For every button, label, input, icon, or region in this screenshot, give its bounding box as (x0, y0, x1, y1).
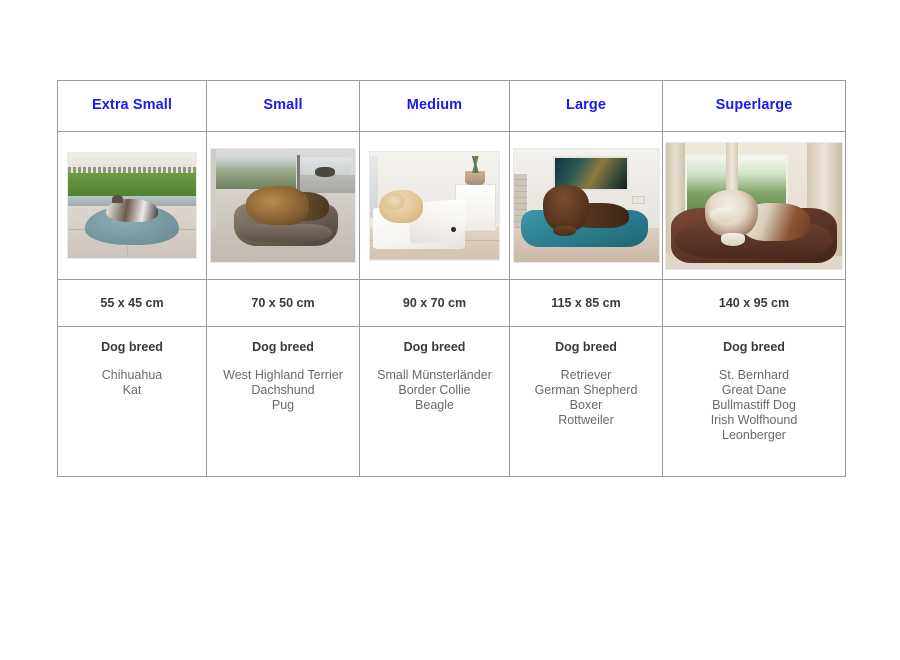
breed-item: Border Collie (360, 383, 509, 398)
breed-item: Kat (58, 383, 206, 398)
size-name-small: Small (207, 98, 359, 114)
dog-bed-photo-extra-small (67, 152, 197, 259)
breed-item: St. Bernhard (663, 368, 845, 383)
breed-item: Dachshund (207, 383, 359, 398)
size-name-extra-small: Extra Small (58, 98, 206, 114)
breed-item: Chihuahua (58, 368, 206, 383)
breed-item: Leonberger (663, 428, 845, 443)
dimensions-cell-small: 70 x 50 cm (207, 280, 360, 327)
dimensions-cell-medium: 90 x 70 cm (360, 280, 510, 327)
dimensions-large: 115 x 85 cm (510, 296, 662, 310)
breed-item: Pug (207, 398, 359, 413)
photo-cell-large (510, 132, 663, 280)
photo-cell-superlarge (663, 132, 846, 280)
size-name-superlarge: Superlarge (663, 98, 845, 114)
table-dimensions-row: 55 x 45 cm 70 x 50 cm 90 x 70 cm 115 x 8… (58, 280, 846, 327)
breed-list-medium: Small MünsterländerBorder CollieBeagle (360, 368, 509, 413)
dimensions-extra-small: 55 x 45 cm (58, 296, 206, 310)
table-photo-row (58, 132, 846, 280)
size-chart-page: Extra Small Small Medium Large Superlarg… (0, 0, 900, 660)
breed-item: Boxer (510, 398, 662, 413)
size-name-medium: Medium (360, 98, 509, 114)
photo-cell-extra-small (58, 132, 207, 280)
breed-item: Bullmastiff Dog (663, 398, 845, 413)
dimensions-superlarge: 140 x 95 cm (663, 296, 845, 310)
dimensions-cell-extra-small: 55 x 45 cm (58, 280, 207, 327)
header-cell-extra-small: Extra Small (58, 81, 207, 132)
dimensions-medium: 90 x 70 cm (360, 296, 509, 310)
breed-list-superlarge: St. BernhardGreat DaneBullmastiff DogIri… (663, 368, 845, 443)
table-breeds-row: Dog breed ChihuahuaKat Dog breed West Hi… (58, 327, 846, 477)
dog-bed-size-table: Extra Small Small Medium Large Superlarg… (57, 80, 846, 477)
breeds-cell-large: Dog breed RetrieverGerman ShepherdBoxerR… (510, 327, 663, 477)
dog-bed-photo-medium (369, 151, 500, 261)
table-header-row: Extra Small Small Medium Large Superlarg… (58, 81, 846, 132)
breed-item: Small Münsterländer (360, 368, 509, 383)
breeds-cell-small: Dog breed West Highland TerrierDachshund… (207, 327, 360, 477)
header-cell-small: Small (207, 81, 360, 132)
photo-cell-medium (360, 132, 510, 280)
dimensions-cell-superlarge: 140 x 95 cm (663, 280, 846, 327)
breed-title-medium: Dog breed (360, 340, 509, 354)
dimensions-cell-large: 115 x 85 cm (510, 280, 663, 327)
dog-bed-photo-superlarge (665, 142, 843, 270)
breed-title-extra-small: Dog breed (58, 340, 206, 354)
breed-item: Great Dane (663, 383, 845, 398)
breed-list-extra-small: ChihuahuaKat (58, 368, 206, 398)
breeds-cell-medium: Dog breed Small MünsterländerBorder Coll… (360, 327, 510, 477)
breed-title-small: Dog breed (207, 340, 359, 354)
breed-title-superlarge: Dog breed (663, 340, 845, 354)
header-cell-superlarge: Superlarge (663, 81, 846, 132)
dimensions-small: 70 x 50 cm (207, 296, 359, 310)
breed-item: Beagle (360, 398, 509, 413)
breed-item: Retriever (510, 368, 662, 383)
breeds-cell-extra-small: Dog breed ChihuahuaKat (58, 327, 207, 477)
breed-list-large: RetrieverGerman ShepherdBoxerRottweiler (510, 368, 662, 428)
breed-list-small: West Highland TerrierDachshundPug (207, 368, 359, 413)
dog-bed-photo-small (210, 148, 356, 263)
header-cell-large: Large (510, 81, 663, 132)
breed-item: Irish Wolfhound (663, 413, 845, 428)
breed-item: Rottweiler (510, 413, 662, 428)
breed-item: German Shepherd (510, 383, 662, 398)
dog-bed-photo-large (513, 148, 660, 263)
breeds-cell-superlarge: Dog breed St. BernhardGreat DaneBullmast… (663, 327, 846, 477)
breed-title-large: Dog breed (510, 340, 662, 354)
breed-item: West Highland Terrier (207, 368, 359, 383)
header-cell-medium: Medium (360, 81, 510, 132)
photo-cell-small (207, 132, 360, 280)
size-name-large: Large (510, 98, 662, 114)
